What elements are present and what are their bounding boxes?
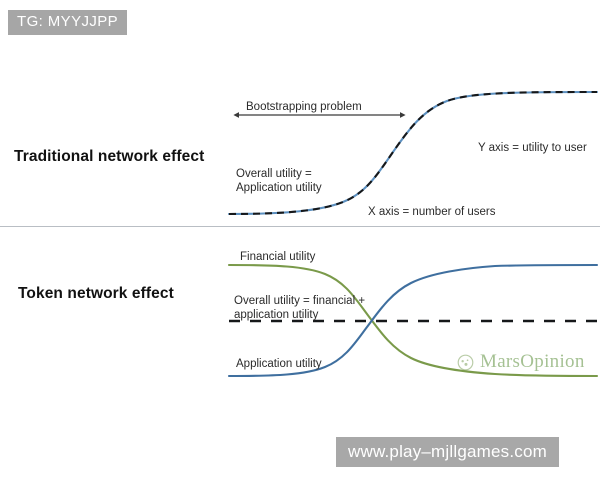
annotation-bootstrapping-problem: Bootstrapping problem [246,100,362,114]
annotation-overall-utility-token: Overall utility = financial + applicatio… [234,294,365,322]
annotation-x-axis-label: X axis = number of users [368,205,496,219]
marsopinion-label: MarsOpinion [480,351,585,373]
marsopinion-watermark: MarsOpinion [456,351,585,373]
diagram-canvas: TG: MYYJJPP Traditional network effect B… [0,0,600,480]
annotation-overall-utility-traditional: Overall utility = Application utility [236,167,322,195]
section-title-traditional: Traditional network effect [14,148,204,166]
chart-token-network-effect [225,240,600,420]
token-curves-svg [225,240,600,420]
annotation-financial-utility: Financial utility [240,250,315,264]
telegram-handle-badge: TG: MYYJJPP [8,10,127,35]
annotation-y-axis-label: Y axis = utility to user [478,141,587,155]
annotation-application-utility: Application utility [236,357,322,371]
site-url-watermark: www.play–mjllgames.com [336,437,559,467]
marsopinion-logo-icon [456,353,475,372]
section-title-token: Token network effect [18,285,174,303]
panel-divider [0,226,600,227]
